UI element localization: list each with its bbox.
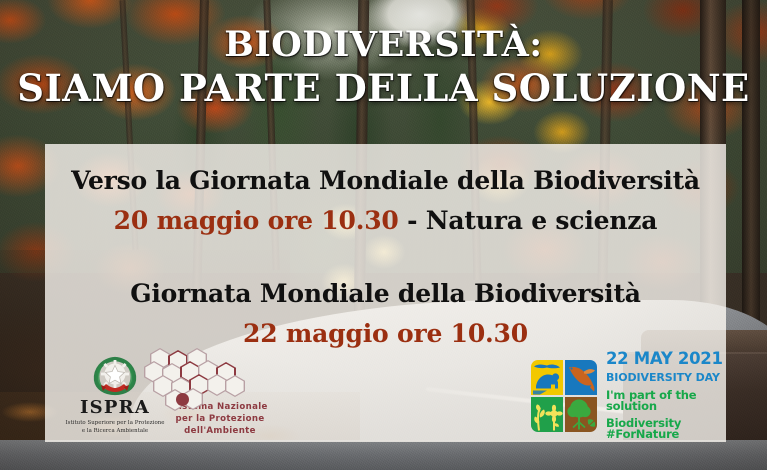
biodiversity-day-event-name: BIODIVERSITY DAY	[606, 372, 727, 383]
headline-line-1: BIODIVERSITÀ:	[0, 26, 767, 63]
snpa-full-name-line-2: per la Protezione	[150, 413, 290, 425]
biodiversity-day-text-block: 22 MAY 2021 BIODIVERSITY DAY I'm part of…	[606, 351, 727, 441]
biodiversity-day-slogan: I'm part of the solution	[606, 390, 727, 413]
tree-leaf-icon	[565, 397, 597, 432]
headline-line-2: SIAMO PARTE DELLA SOLUZIONE	[0, 69, 767, 108]
italian-republic-emblem-icon	[92, 354, 138, 396]
poster-headline: BIODIVERSITÀ: SIAMO PARTE DELLA SOLUZION…	[0, 26, 767, 108]
biodiversity-day-date: 22 MAY 2021	[606, 351, 727, 368]
snpa-logo: Sistema Nazionale per la Protezione dell…	[140, 348, 290, 438]
biodiversity-day-logo: 22 MAY 2021 BIODIVERSITY DAY I'm part of…	[531, 352, 727, 440]
snpa-red-dot	[176, 393, 189, 406]
hexagon-italy-map-icon	[144, 348, 270, 400]
biodiversity-icon-grid	[531, 360, 597, 432]
event-1-subtitle: - Natura e scienza	[399, 206, 658, 235]
event-1-datetime: 20 maggio ore 10.30	[114, 206, 399, 235]
biodiversity-day-hashtag: Biodiversity #ForNature	[606, 418, 727, 441]
event-1-title: Verso la Giornata Mondiale della Biodive…	[61, 166, 710, 195]
flying-bird-icon	[565, 360, 597, 395]
snpa-full-name-line-3: dell'Ambiente	[150, 425, 290, 437]
event-info-text-block: Verso la Giornata Mondiale della Biodive…	[45, 144, 726, 348]
event-1-datetime-row: 20 maggio ore 10.30 - Natura e scienza	[61, 206, 710, 235]
polar-bear-iceberg-icon	[531, 360, 563, 395]
event-2-datetime: 22 maggio ore 10.30	[61, 319, 710, 348]
poster-canvas: BIODIVERSITÀ: SIAMO PARTE DELLA SOLUZION…	[0, 0, 767, 470]
wildflowers-icon	[531, 397, 563, 432]
event-2-title: Giornata Mondiale della Biodiversità	[61, 279, 710, 308]
